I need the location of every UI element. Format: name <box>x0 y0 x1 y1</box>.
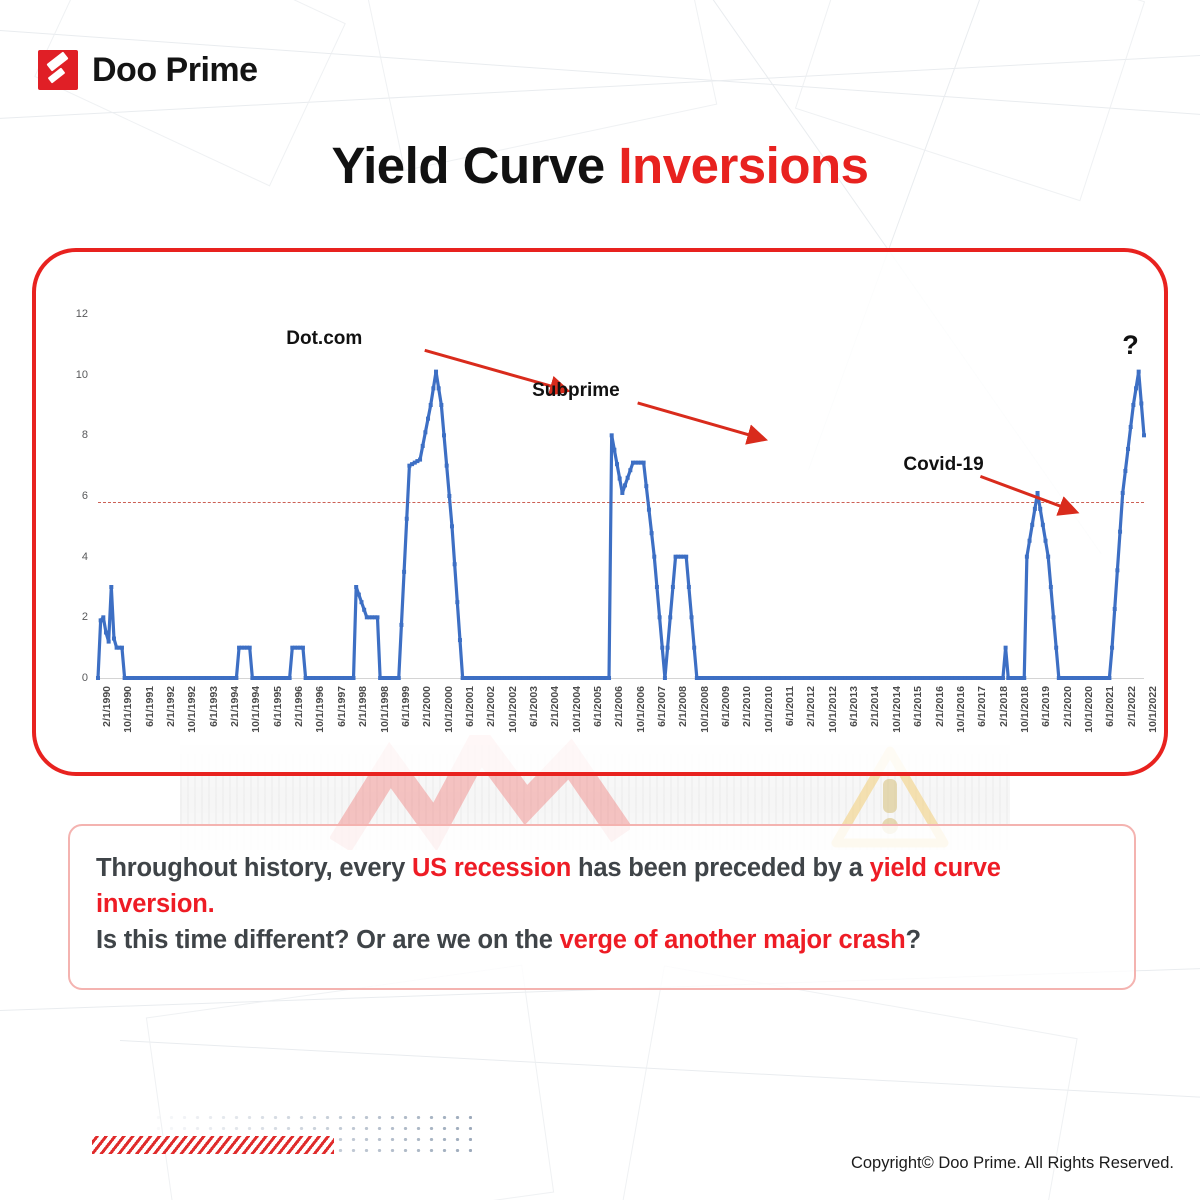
caption-text-a: Throughout history, every <box>96 854 412 882</box>
caption-line-2: Is this time different? Or are we on the… <box>96 922 1108 958</box>
doo-prime-logo-icon <box>38 50 78 90</box>
chart-annotation: Subprime <box>532 380 620 402</box>
footer-decoration <box>92 1112 472 1164</box>
page-title: Yield Curve Inversions <box>0 136 1200 195</box>
page-title-accent: Inversions <box>618 137 868 194</box>
page-title-part1: Yield Curve <box>332 137 619 194</box>
annotation-arrows <box>36 252 1164 776</box>
caption-text-b: has been preceded by a <box>571 854 870 882</box>
chart-annotation: Dot.com <box>286 328 362 350</box>
caption-text-d: ? <box>906 926 921 954</box>
chart-annotation: Covid-19 <box>903 454 983 476</box>
chart-annotation: ? <box>1122 330 1139 361</box>
brand-name: Doo Prime <box>92 51 258 90</box>
chart: 024681012 Dot.comSubprimeCovid-19? 2/1/1… <box>36 252 1164 772</box>
brand-logo[interactable]: Doo Prime <box>38 50 258 90</box>
caption-highlight-recession: US recession <box>412 854 571 882</box>
caption-line-1: Throughout history, every US recession h… <box>96 850 1108 922</box>
caption-card: Throughout history, every US recession h… <box>68 824 1136 990</box>
chart-card: 024681012 Dot.comSubprimeCovid-19? 2/1/1… <box>32 248 1168 776</box>
caption-text-c: Is this time different? Or are we on the <box>96 926 560 954</box>
copyright-text: Copyright© Doo Prime. All Rights Reserve… <box>851 1154 1174 1173</box>
stripe-bar-decoration <box>92 1136 334 1154</box>
caption-highlight-crash: verge of another major crash <box>560 926 906 954</box>
